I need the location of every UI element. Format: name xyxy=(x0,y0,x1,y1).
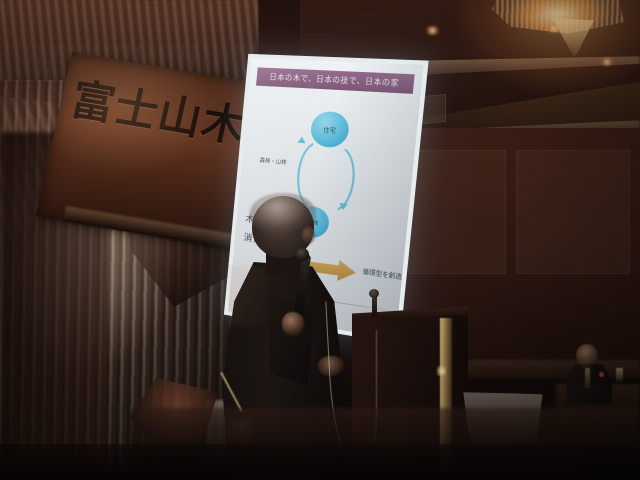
slide-circle-top-label: 住宅 xyxy=(323,124,336,134)
downlight-icon xyxy=(546,24,562,33)
slide-title-bar: 日本の木で、日本の技で、日本の家 xyxy=(256,67,415,93)
microphone-capsule xyxy=(296,248,309,261)
lectern-fitting xyxy=(437,366,446,376)
podium-microphone-icon xyxy=(369,289,379,298)
photograph: 富士山木造住 日本の木で、日本の技で、日本の家 住宅 森林・山林 森林 木造 消… xyxy=(0,0,640,480)
presenter-ear xyxy=(302,226,315,244)
presenter-hand xyxy=(282,312,304,336)
downlight-icon xyxy=(424,26,441,35)
seated-attendee-tie xyxy=(585,368,590,388)
presenter-arm xyxy=(268,294,314,386)
presenter-shoulder-highlight xyxy=(228,266,268,326)
seated-attendee-head xyxy=(576,344,598,368)
downlight-icon xyxy=(600,58,614,66)
foreground-shadow xyxy=(0,444,640,480)
slide-cycle-label: 森林・山林 xyxy=(259,156,286,166)
seated-attendee-lapel-pin xyxy=(599,372,604,377)
wall-panel xyxy=(516,150,630,274)
slide-arrow-label: 循環型を創造 xyxy=(362,266,402,281)
drinking-glass xyxy=(616,368,623,382)
slide-circle-top: 住宅 xyxy=(309,110,350,148)
wall-panel xyxy=(408,150,506,274)
cycle-arrowhead-up-icon xyxy=(297,136,306,143)
slide-title-text: 日本の木で、日本の技で、日本の家 xyxy=(269,72,400,89)
seated-attendee xyxy=(566,344,612,402)
